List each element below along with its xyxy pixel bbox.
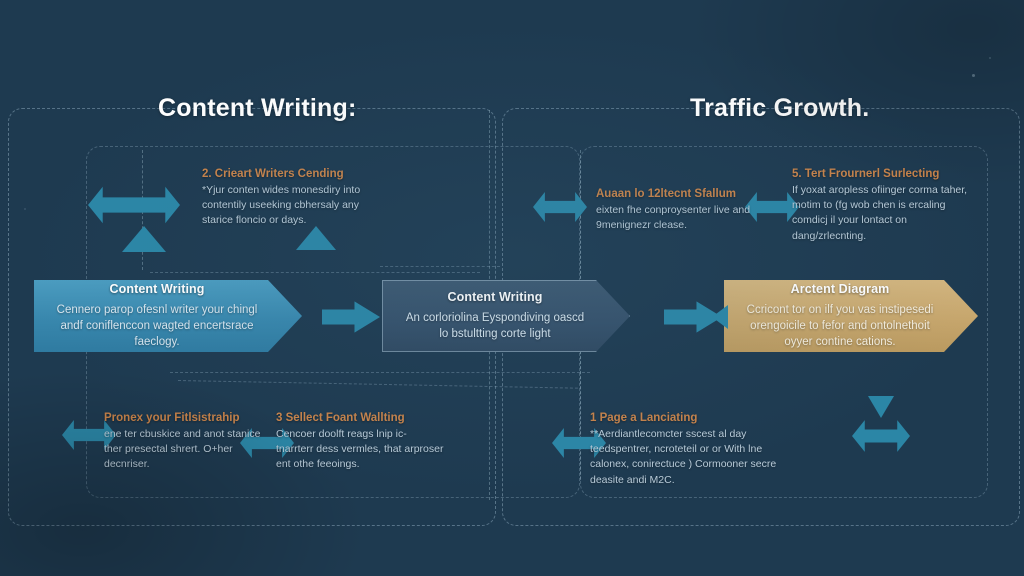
callout-body: *Yjur conten wides monesdiry into conten…	[202, 183, 388, 229]
callout-pronex-fitlsistrahip: Pronex your Fitlsistrahip ene ter cbuski…	[104, 412, 272, 473]
process-box-body: Cennero parop ofesnl writer your chingl …	[56, 302, 258, 351]
process-box-title: Content Writing	[110, 282, 205, 296]
callout-crieart-writers-cending: 2. Crieart Writers Cending *Yjur conten …	[202, 168, 388, 229]
process-box-body: Ccricont tor on ilf you vas instipesedi …	[746, 302, 934, 351]
callout-body: Cencoer doolft reags lnip ic- tnarrterr …	[276, 427, 444, 473]
callout-heading: 5. Tert Frournerl Surlecting	[792, 168, 972, 180]
callout-heading: 2. Crieart Writers Cending	[202, 168, 388, 180]
callout-heading: 3 Sellect Foant Wallting	[276, 412, 444, 424]
callout-heading: Auaan lo 12ltecnt Sfallum	[596, 188, 762, 200]
callout-sellect-foant-wallting: 3 Sellect Foant Wallting Cencoer doolft …	[276, 412, 444, 473]
connector-line-upper	[150, 272, 480, 273]
callout-body: ene ter cbuskice and anot stanice ther p…	[104, 427, 272, 473]
callout-page-a-lanciating: 1 Page a Lanciating **Aerdiantlecomcter …	[590, 412, 786, 488]
callout-tert-frournerl-surlecting: 5. Tert Frournerl Surlecting If yoxat ar…	[792, 168, 972, 244]
callout-body: If yoxat aropless ofiinger corma taher, …	[792, 183, 972, 244]
light-speck	[24, 208, 26, 210]
callout-body: eixten fhe conproysenter live and 9menig…	[596, 203, 762, 233]
process-box-body: An corloriolina Eyspondiving oascd lo bs…	[404, 310, 586, 343]
process-box-arctent-diagram[interactable]: Arctent Diagram Ccricont tor on ilf you …	[724, 280, 978, 352]
callout-heading: 1 Page a Lanciating	[590, 412, 786, 424]
callout-auaan-sfallum: Auaan lo 12ltecnt Sfallum eixten fhe con…	[596, 188, 762, 233]
callout-body: **Aerdiantlecomcter sscest al day teedsp…	[590, 427, 786, 488]
process-box-title: Content Writing	[448, 290, 543, 304]
callout-heading: Pronex your Fitlsistrahip	[104, 412, 272, 424]
light-speck	[972, 74, 975, 77]
process-box-content-writing-1[interactable]: Content Writing Cennero parop ofesnl wri…	[34, 280, 302, 352]
process-box-title: Arctent Diagram	[791, 282, 890, 296]
connector-line-lower	[170, 372, 590, 373]
page-title-left: Content Writing:	[158, 94, 357, 123]
light-speck	[989, 57, 991, 59]
infographic-canvas: Content Writing: Traffic Growth. Content…	[0, 0, 1024, 576]
page-title-right: Traffic Growth.	[690, 94, 869, 123]
process-box-content-writing-2[interactable]: Content Writing An corloriolina Eyspondi…	[382, 280, 630, 352]
connector-line-upper-2	[380, 266, 500, 267]
